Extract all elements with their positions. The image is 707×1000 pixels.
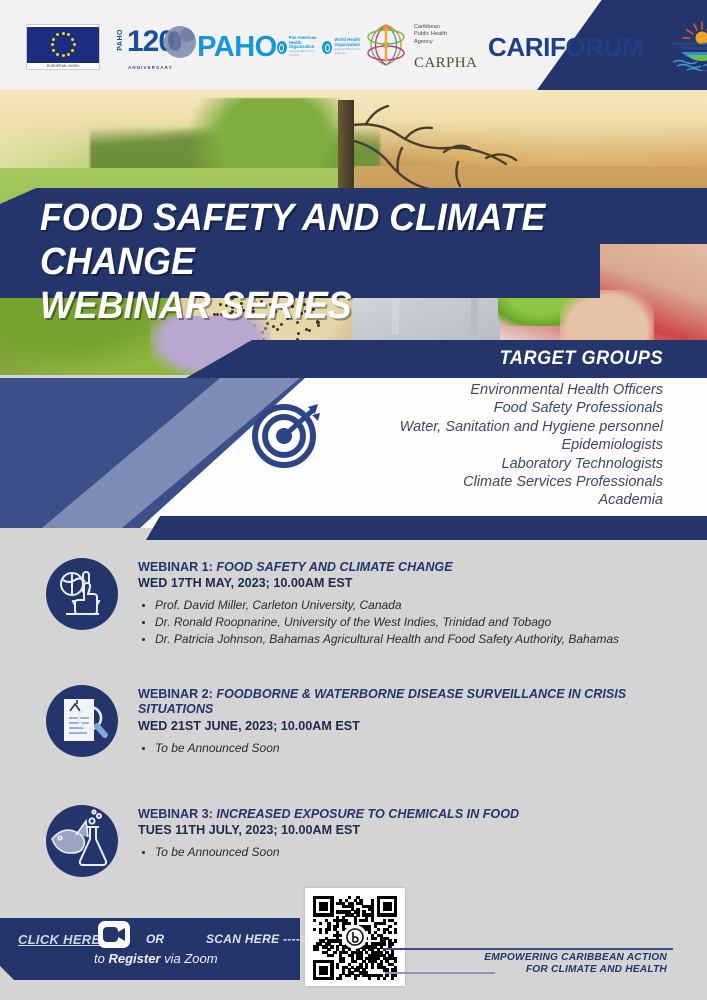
document-magnifier-surveillance-icon (46, 685, 118, 757)
qr-module (377, 942, 380, 945)
qr-module (319, 942, 322, 945)
qr-module (348, 974, 351, 977)
qr-module (351, 902, 354, 905)
qr-module (345, 905, 348, 908)
target-group-item: Water, Sanitation and Hygiene personnel (243, 418, 663, 436)
qr-module (391, 919, 394, 922)
qr-module (313, 945, 316, 948)
target-group-item: Laboratory Technologists (243, 455, 663, 473)
qr-module (380, 939, 383, 942)
qr-module (365, 974, 368, 977)
qr-module (377, 922, 380, 925)
paho-sub-label-2: World HealthOrganization Regional Office… (334, 38, 363, 56)
qr-canvas (313, 896, 397, 978)
qr-module (327, 977, 330, 980)
qr-module (342, 945, 345, 948)
qr-module (348, 902, 351, 905)
qr-module (345, 919, 348, 922)
qr-module (368, 974, 371, 977)
register-suffix: via Zoom (161, 951, 218, 966)
qr-module (342, 968, 345, 971)
qr-module (322, 968, 325, 971)
register-prefix: to (94, 951, 108, 966)
qr-module (362, 913, 365, 916)
petri-colony (276, 328, 279, 331)
qr-module (325, 902, 328, 905)
qr-module (374, 937, 377, 940)
qr-module (319, 931, 322, 934)
eu-star-icon (67, 53, 70, 56)
qr-module (391, 974, 394, 977)
webinar-3-body: WEBINAR 3: INCREASED EXPOSURE TO CHEMICA… (138, 805, 519, 877)
qr-module (322, 939, 325, 942)
qr-module (388, 925, 391, 928)
qr-module (365, 957, 368, 960)
fish-chemical-flask-icon (46, 805, 118, 877)
qr-module (336, 925, 339, 928)
eu-star-icon (56, 33, 59, 36)
qr-module (316, 960, 319, 963)
qr-module (371, 908, 374, 911)
qr-module (362, 919, 365, 922)
qr-module (371, 916, 374, 919)
qr-module (383, 896, 386, 899)
qr-module (394, 905, 397, 908)
target-group-item: Environmental Health Officers (243, 381, 663, 399)
qr-module (371, 963, 374, 966)
qr-module (327, 954, 330, 957)
qr-module (342, 916, 345, 919)
qr-module (377, 951, 380, 954)
qr-module (351, 960, 354, 963)
qr-module (383, 937, 386, 940)
qr-module (330, 945, 333, 948)
webinar-3-topic: INCREASED EXPOSURE TO CHEMICALS IN FOOD (216, 807, 519, 821)
qr-module (371, 945, 374, 948)
qr-module (377, 934, 380, 937)
webinar-3-title: WEBINAR 3: INCREASED EXPOSURE TO CHEMICA… (138, 807, 519, 822)
eu-star-icon (52, 38, 55, 41)
qr-module (336, 977, 339, 980)
qr-module (383, 954, 386, 957)
speaker-item: Prof. David Miller, Carleton University,… (155, 598, 619, 614)
qr-module (339, 899, 342, 902)
qr-module (313, 971, 316, 974)
qr-module (380, 974, 383, 977)
webinar-2-body: WEBINAR 2: FOODBORNE & WATERBORNE DISEAS… (138, 685, 686, 757)
qr-module (377, 977, 380, 980)
qr-module (394, 966, 397, 969)
qr-module (316, 913, 319, 916)
qr-module (351, 954, 354, 957)
qr-module (359, 902, 362, 905)
qr-module (345, 951, 348, 954)
webinar-2-title: WEBINAR 2: FOODBORNE & WATERBORNE DISEAS… (138, 687, 686, 718)
qr-module (394, 922, 397, 925)
who-seal-icon (322, 41, 332, 54)
qr-module (354, 974, 357, 977)
qr-module (388, 954, 391, 957)
petri-colony (297, 332, 300, 335)
qr-module (388, 905, 391, 908)
qr-module (330, 974, 333, 977)
qr-module (388, 939, 391, 942)
qr-module (322, 971, 325, 974)
qr-module (385, 960, 388, 963)
qr-module (336, 919, 339, 922)
qr-module (330, 977, 333, 980)
qr-module (371, 957, 374, 960)
qr-module (385, 951, 388, 954)
zoom-video-camera-icon[interactable] (98, 921, 130, 948)
qr-module (356, 957, 359, 960)
qr-module (365, 905, 368, 908)
qr-module (339, 954, 342, 957)
qr-module (368, 913, 371, 916)
qr-module (388, 902, 391, 905)
qr-module (365, 913, 368, 916)
qr-module (313, 910, 316, 913)
qr-module (342, 966, 345, 969)
qr-module (383, 902, 386, 905)
qr-module (348, 954, 351, 957)
qr-module (345, 922, 348, 925)
qr-module (394, 960, 397, 963)
qr-module (342, 957, 345, 960)
qr-module (325, 977, 328, 980)
qr-module (319, 966, 322, 969)
qr-module (327, 922, 330, 925)
qr-module (325, 928, 328, 931)
webinar-3-speakers: To be Announced Soon (155, 845, 519, 861)
qr-module (336, 937, 339, 940)
qr-module (325, 971, 328, 974)
qr-module (339, 919, 342, 922)
eu-star-icon (62, 54, 65, 57)
qr-module (380, 960, 383, 963)
qr-module (351, 957, 354, 960)
qr-module (354, 951, 357, 954)
qr-module (356, 908, 359, 911)
webinar-item-1: WEBINAR 1: FOOD SAFETY AND CLIMATE CHANG… (46, 558, 686, 648)
eu-star-icon (71, 38, 74, 41)
webinar-item-3: WEBINAR 3: INCREASED EXPOSURE TO CHEMICA… (46, 805, 686, 877)
qr-module (319, 905, 322, 908)
qr-module (325, 896, 328, 899)
webinar-1-speakers: Prof. David Miller, Carleton University,… (155, 598, 619, 647)
qr-module (313, 908, 316, 911)
qr-module (371, 948, 374, 951)
qr-module (325, 937, 328, 940)
qr-module (325, 951, 328, 954)
qr-module (342, 951, 345, 954)
eu-star-icon (71, 49, 74, 52)
qr-module (354, 910, 357, 913)
qr-module (371, 905, 374, 908)
qr-module (342, 905, 345, 908)
qr-module (354, 899, 357, 902)
webinar-1-body: WEBINAR 1: FOOD SAFETY AND CLIMATE CHANG… (138, 558, 619, 648)
qr-module (377, 974, 380, 977)
qr-module (313, 960, 316, 963)
qr-module (313, 974, 316, 977)
qr-module (351, 951, 354, 954)
qr-module (394, 931, 397, 934)
qr-module (365, 951, 368, 954)
qr-module (319, 939, 322, 942)
qr-module (356, 954, 359, 957)
qr-module (385, 902, 388, 905)
qr-module (316, 977, 319, 980)
qr-module (383, 939, 386, 942)
qr-module (322, 966, 325, 969)
qr-module (394, 974, 397, 977)
qr-module (377, 963, 380, 966)
qr-module (356, 896, 359, 899)
qr-module (327, 925, 330, 928)
webinar-list: WEBINAR 1: FOOD SAFETY AND CLIMATE CHANG… (0, 548, 707, 888)
qr-module (319, 902, 322, 905)
qr-module (313, 905, 316, 908)
qr-module (371, 951, 374, 954)
qr-module (322, 945, 325, 948)
qr-module (383, 966, 386, 969)
qr-module (377, 896, 380, 899)
qr-module (325, 905, 328, 908)
qr-module (336, 939, 339, 942)
qr-module (313, 963, 316, 966)
petri-colony (308, 329, 311, 332)
qr-module (319, 922, 322, 925)
qr-module (351, 908, 354, 911)
qr-module (327, 942, 330, 945)
qr-module (377, 905, 380, 908)
qr-module (313, 899, 316, 902)
qr-module (325, 968, 328, 971)
qr-module (348, 968, 351, 971)
qr-module (319, 977, 322, 980)
qr-module (368, 928, 371, 931)
speaker-item: Dr. Ronald Roopnarine, University of the… (155, 615, 619, 631)
qr-module (333, 951, 336, 954)
footer-tagline: EMPOWERING CARIBBEAN ACTION FOR CLIMATE … (484, 952, 667, 977)
qr-module (374, 974, 377, 977)
qr-module (371, 910, 374, 913)
qr-module (345, 913, 348, 916)
carpha-subtitle: CaribbeanPublic HealthAgency (414, 24, 447, 46)
qr-module (348, 913, 351, 916)
qr-module (322, 905, 325, 908)
qr-module (336, 963, 339, 966)
qr-module (371, 966, 374, 969)
target-group-item: Food Safety Professionals (243, 399, 663, 417)
qr-module (383, 908, 386, 911)
qr-module (327, 939, 330, 942)
qr-module (362, 905, 365, 908)
qr-module (348, 963, 351, 966)
qr-module (377, 913, 380, 916)
qr-module (327, 913, 330, 916)
carpha-mesh-icon (360, 22, 412, 68)
qr-module (371, 899, 374, 902)
pan-american-health-org-block: Pan AmericanHealthOrganization Regional … (277, 36, 318, 59)
qr-module (377, 948, 380, 951)
qr-module (354, 919, 357, 922)
qr-module (336, 945, 339, 948)
qr-module (371, 937, 374, 940)
qr-module (377, 957, 380, 960)
qr-module (380, 954, 383, 957)
eu-flag-field (27, 27, 99, 63)
qr-module (348, 910, 351, 913)
qr-module (383, 957, 386, 960)
qr-module (313, 968, 316, 971)
qr-module (374, 922, 377, 925)
qr-module (391, 963, 394, 966)
qr-module (316, 945, 319, 948)
paho-sub-row: Pan AmericanHealthOrganization Regional … (277, 36, 363, 59)
qr-module (336, 934, 339, 937)
qr-module (351, 905, 354, 908)
qr-module (394, 896, 397, 899)
qr-module (374, 925, 377, 928)
qr-module (371, 974, 374, 977)
ecach-logo: EMPOWERING CARIBBEAN ACTION FOR CLIMATE … (659, 21, 707, 73)
qr-module (336, 902, 339, 905)
qr-module (380, 963, 383, 966)
qr-module (348, 905, 351, 908)
cariforum-logo: CARIFORUM (488, 32, 643, 63)
page-title: FOOD SAFETY AND CLIMATE CHANGE WEBINAR S… (40, 196, 642, 328)
eu-star-icon (52, 49, 55, 52)
qr-module (377, 910, 380, 913)
qr-module (380, 937, 383, 940)
qr-module (327, 928, 330, 931)
qr-module (377, 899, 380, 902)
qr-module (325, 945, 328, 948)
qr-module (371, 954, 374, 957)
qr-module (342, 922, 345, 925)
qr-module (371, 960, 374, 963)
target-groups-list: Environmental Health Officers Food Safet… (243, 381, 663, 510)
qr-module (313, 919, 316, 922)
qr-module (368, 957, 371, 960)
qr-module (322, 908, 325, 911)
ecach-waves-icon (671, 59, 707, 71)
qr-module (394, 928, 397, 931)
qr-module (380, 966, 383, 969)
qr-module (319, 928, 322, 931)
qr-module (368, 954, 371, 957)
webinar-1-topic: FOOD SAFETY AND CLIMATE CHANGE (216, 560, 452, 574)
qr-module (313, 902, 316, 905)
qr-module (342, 910, 345, 913)
qr-module (371, 902, 374, 905)
qr-module (368, 925, 371, 928)
qr-module (330, 966, 333, 969)
webinar-2-speakers: To be Announced Soon (155, 741, 686, 757)
qr-module (377, 954, 380, 957)
webinar-2-lead: WEBINAR 2: (138, 687, 216, 701)
eu-star-icon (51, 43, 54, 46)
qr-module (339, 974, 342, 977)
qr-module (383, 942, 386, 945)
qr-center-logo (343, 925, 367, 949)
qr-module (383, 922, 386, 925)
qr-module (319, 908, 322, 911)
paho-sub-label-1: Pan AmericanHealthOrganization Regional … (289, 36, 318, 59)
qr-module (383, 928, 386, 931)
qr-module (351, 971, 354, 974)
qr-module (365, 971, 368, 974)
qr-module (330, 939, 333, 942)
qr-module (385, 913, 388, 916)
qr-module (374, 945, 377, 948)
qr-module (313, 913, 316, 916)
webinar-item-2: WEBINAR 2: FOODBORNE & WATERBORNE DISEAS… (46, 685, 686, 757)
qr-module (330, 896, 333, 899)
qr-module (330, 971, 333, 974)
qr-module (394, 908, 397, 911)
qr-module (385, 905, 388, 908)
qr-module (362, 974, 365, 977)
qr-module (330, 960, 333, 963)
qr-module (391, 951, 394, 954)
qr-module (313, 896, 316, 899)
webinar-3-date: TUES 11TH JULY, 2023; 10.00AM EST (138, 822, 519, 838)
qr-module (327, 896, 330, 899)
or-label: OR (146, 932, 164, 946)
footer-rule-bottom (385, 972, 495, 974)
qr-module (365, 963, 368, 966)
speaker-item: Dr. Patricia Johnson, Bahamas Agricultur… (155, 632, 619, 648)
qr-module (313, 948, 316, 951)
qr-module (339, 951, 342, 954)
qr-module (371, 942, 374, 945)
click-here-link[interactable]: CLICK HERE (18, 932, 100, 947)
qr-module (368, 931, 371, 934)
qr-module (322, 896, 325, 899)
qr-module (313, 966, 316, 969)
register-via-zoom-label: to Register via Zoom (94, 951, 218, 966)
qr-module (394, 957, 397, 960)
qr-module (380, 951, 383, 954)
qr-module (313, 928, 316, 931)
qr-module (388, 919, 391, 922)
qr-module (354, 968, 357, 971)
qr-module (342, 960, 345, 963)
qr-module (322, 977, 325, 980)
qr-module (371, 919, 374, 922)
qr-module (354, 977, 357, 980)
world-health-org-block: World HealthOrganization Regional Office… (322, 36, 363, 59)
qr-module (356, 968, 359, 971)
qr-module (339, 934, 342, 937)
qr-module (336, 922, 339, 925)
qr-module (327, 960, 330, 963)
qr-module (345, 974, 348, 977)
qr-module (330, 902, 333, 905)
qr-module (374, 951, 377, 954)
qr-module (388, 931, 391, 934)
qr-module (333, 928, 336, 931)
qr-module (371, 934, 374, 937)
qr-module (394, 899, 397, 902)
poster-root: EUROPEAN UNION PAHO 120 ANNIVERSARY PAHO… (0, 0, 707, 1000)
speaker-item: To be Announced Soon (155, 741, 686, 757)
qr-module (339, 902, 342, 905)
qr-module (330, 968, 333, 971)
